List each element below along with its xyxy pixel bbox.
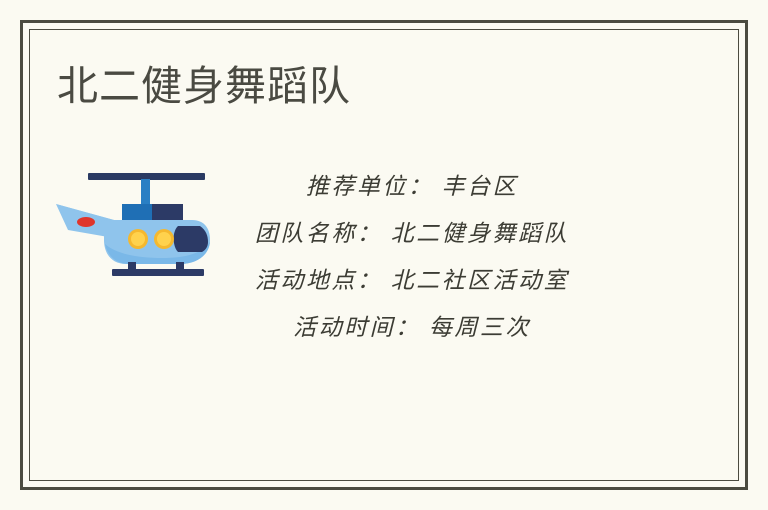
page-title: 北二健身舞蹈队 — [57, 61, 351, 112]
info-line-activity-time: 活动时间： 每周三次 — [212, 304, 612, 351]
helicopter-icon — [52, 160, 218, 276]
info-line-recommending-unit: 推荐单位： 丰台区 — [212, 163, 612, 210]
info-list: 推荐单位： 丰台区 团队名称： 北二健身舞蹈队 活动地点： 北二社区活动室 活动… — [212, 163, 612, 351]
info-line-team-name: 团队名称： 北二健身舞蹈队 — [212, 210, 612, 257]
info-line-activity-location: 活动地点： 北二社区活动室 — [212, 257, 612, 304]
info-card: 北二健身舞蹈队 — [0, 0, 768, 510]
